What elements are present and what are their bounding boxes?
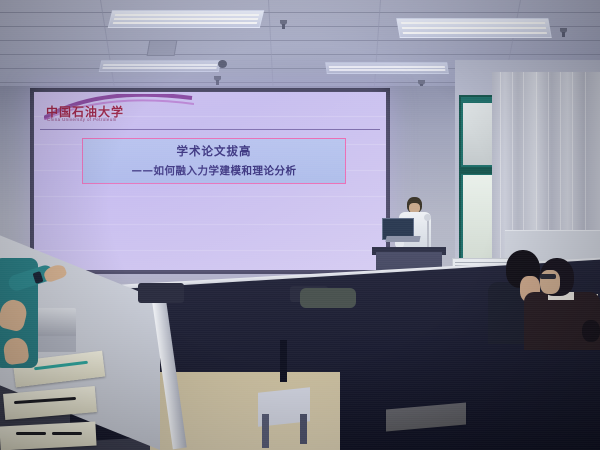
slide-title-sub: ——如何融入力学建模和理论分析 (83, 163, 345, 178)
slide-title-box: 学术论文拔高 ——如何融入力学建模和理论分析 (82, 138, 346, 184)
ceiling-speaker-icon (280, 20, 287, 25)
pen[interactable] (16, 432, 46, 435)
bag[interactable] (300, 288, 356, 308)
stool-leg (262, 414, 269, 448)
microphone-icon (424, 214, 431, 221)
table-front-face (340, 336, 600, 450)
table-leg (280, 340, 287, 382)
laptop-keyboard[interactable] (385, 236, 420, 242)
ceiling-light-fixture (99, 60, 222, 72)
ceiling-light-fixture (108, 10, 264, 28)
ceiling-light-fixture (396, 18, 552, 38)
pen[interactable] (52, 432, 82, 435)
attendee-far-right-head (582, 320, 600, 342)
ceiling-light-fixture (325, 62, 449, 74)
notepad[interactable] (0, 422, 97, 450)
stool-leg (300, 414, 307, 444)
ceiling-dome-speaker-icon (218, 60, 227, 68)
ceiling-speaker-icon (214, 76, 221, 81)
university-logo-subtext: China University of Petroleum (47, 117, 187, 122)
chair[interactable] (138, 283, 184, 303)
seminar-room-photo: 刘建林 中国石油大学（华东） 储运与建筑工程学院 工程力学系 中国石油大学 Ch… (0, 0, 600, 450)
ceiling-diffuser (147, 40, 178, 56)
ceiling-speaker-icon (418, 80, 425, 85)
slide-divider (40, 129, 380, 130)
eyeglasses-icon (540, 274, 556, 279)
slide-title-main: 学术论文拔高 (83, 143, 345, 159)
ceiling-speaker-icon (560, 28, 567, 33)
